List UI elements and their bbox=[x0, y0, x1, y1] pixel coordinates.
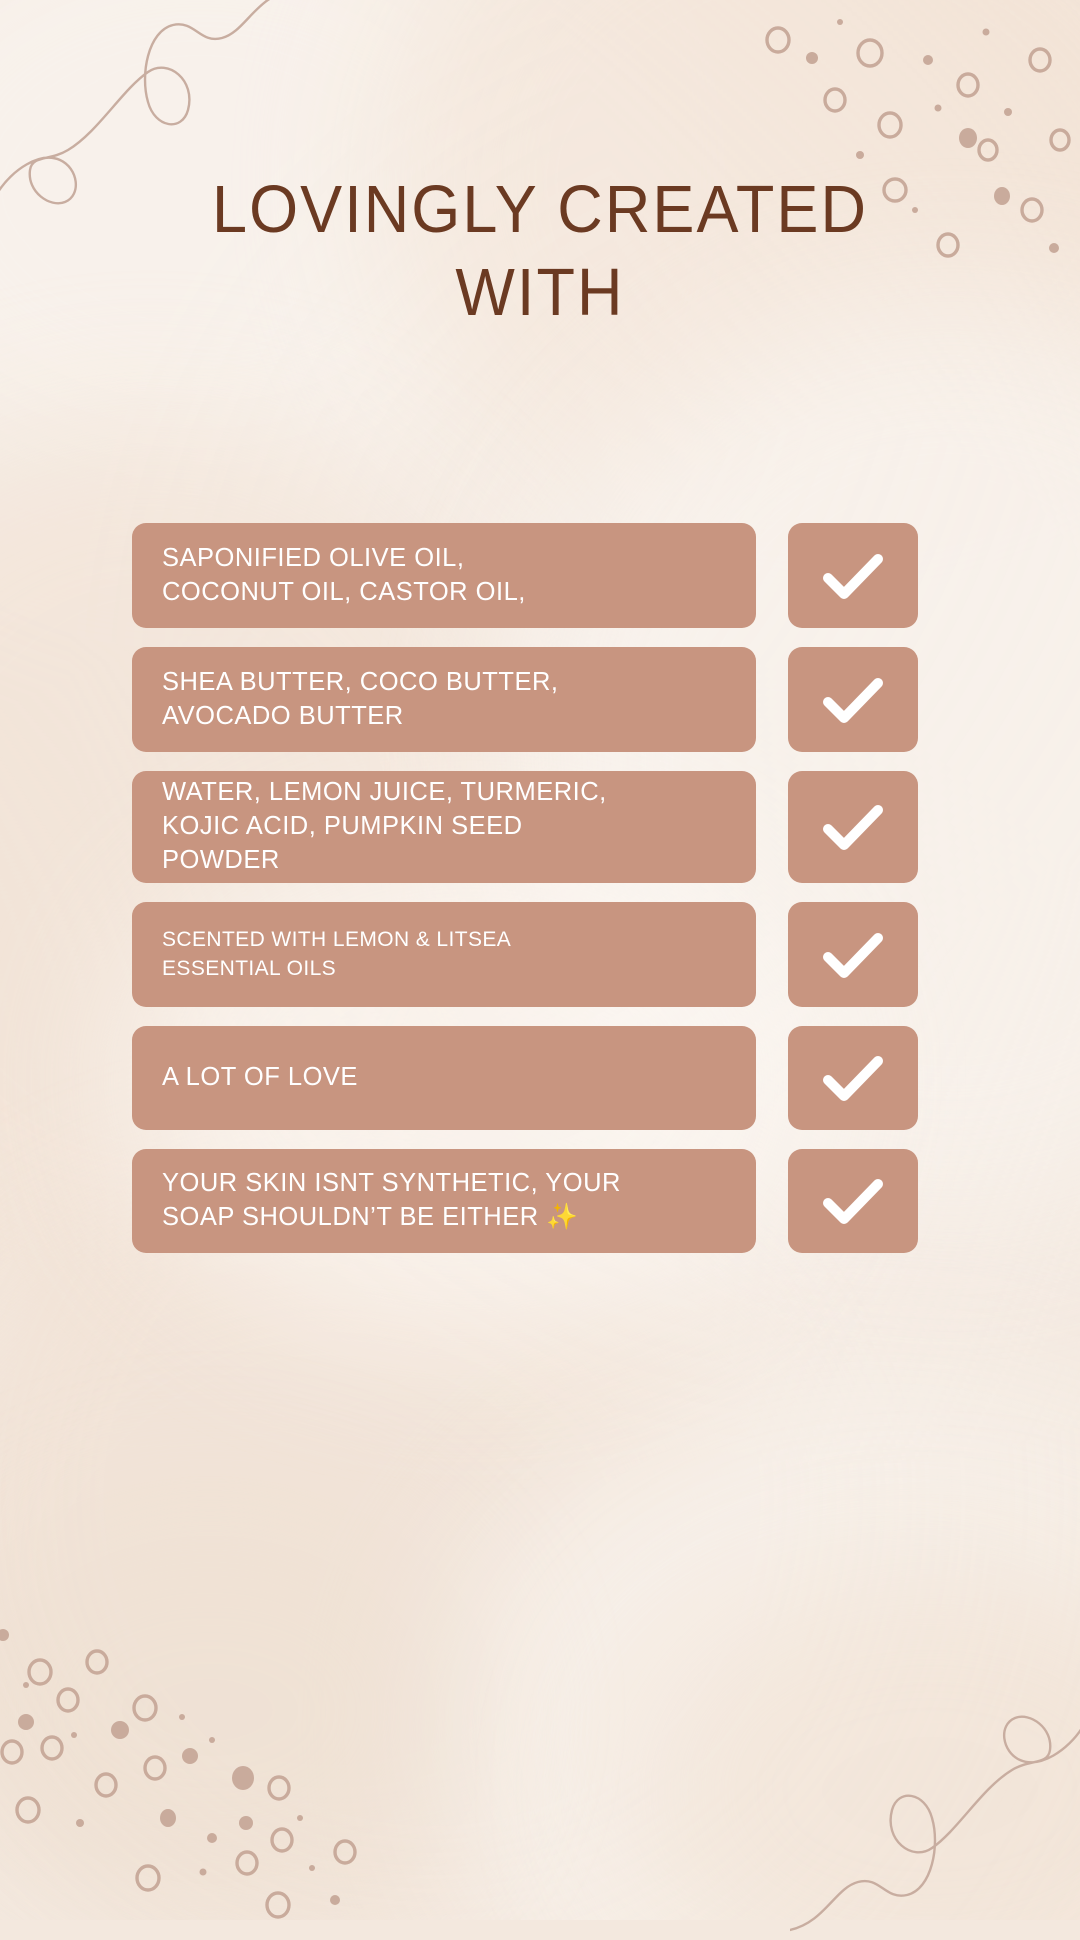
check-icon bbox=[822, 1177, 884, 1225]
ingredient-card[interactable]: SCENTED WITH LEMON & LITSEA ESSENTIAL OI… bbox=[132, 902, 756, 1007]
check-icon bbox=[822, 552, 884, 600]
ingredient-card[interactable]: SHEA BUTTER, COCO BUTTER, AVOCADO BUTTER bbox=[132, 647, 756, 752]
ingredient-label: YOUR SKIN ISNT SYNTHETIC, YOUR SOAP SHOU… bbox=[162, 1167, 621, 1235]
list-item: A LOT OF LOVE bbox=[132, 1026, 918, 1130]
ingredient-card[interactable]: YOUR SKIN ISNT SYNTHETIC, YOUR SOAP SHOU… bbox=[132, 1149, 756, 1253]
page-title: LOVINGLY CREATED WITH bbox=[32, 168, 1047, 334]
check-icon bbox=[822, 676, 884, 724]
ingredient-label: WATER, LEMON JUICE, TURMERIC, KOJIC ACID… bbox=[162, 776, 607, 878]
check-icon bbox=[822, 803, 884, 851]
ingredient-label: SAPONIFIED OLIVE OIL, COCONUT OIL, CASTO… bbox=[162, 542, 526, 610]
checkbox-checked[interactable] bbox=[788, 647, 918, 752]
ingredient-card[interactable]: SAPONIFIED OLIVE OIL, COCONUT OIL, CASTO… bbox=[132, 523, 756, 628]
ingredient-label: SHEA BUTTER, COCO BUTTER, AVOCADO BUTTER bbox=[162, 666, 558, 734]
checkbox-checked[interactable] bbox=[788, 1149, 918, 1253]
list-item: SAPONIFIED OLIVE OIL, COCONUT OIL, CASTO… bbox=[132, 523, 918, 628]
ingredient-label: A LOT OF LOVE bbox=[162, 1061, 358, 1095]
ingredient-label: SCENTED WITH LEMON & LITSEA ESSENTIAL OI… bbox=[162, 926, 511, 982]
checkbox-checked[interactable] bbox=[788, 771, 918, 883]
check-icon bbox=[822, 1054, 884, 1102]
list-item: WATER, LEMON JUICE, TURMERIC, KOJIC ACID… bbox=[132, 771, 918, 883]
checkbox-checked[interactable] bbox=[788, 1026, 918, 1130]
ingredient-card[interactable]: A LOT OF LOVE bbox=[132, 1026, 756, 1130]
checkbox-checked[interactable] bbox=[788, 523, 918, 628]
list-item: YOUR SKIN ISNT SYNTHETIC, YOUR SOAP SHOU… bbox=[132, 1149, 918, 1253]
ingredient-card[interactable]: WATER, LEMON JUICE, TURMERIC, KOJIC ACID… bbox=[132, 771, 756, 883]
check-icon bbox=[822, 931, 884, 979]
ingredient-list: SAPONIFIED OLIVE OIL, COCONUT OIL, CASTO… bbox=[132, 523, 918, 1253]
checkbox-checked[interactable] bbox=[788, 902, 918, 1007]
list-item: SCENTED WITH LEMON & LITSEA ESSENTIAL OI… bbox=[132, 902, 918, 1007]
list-item: SHEA BUTTER, COCO BUTTER, AVOCADO BUTTER bbox=[132, 647, 918, 752]
